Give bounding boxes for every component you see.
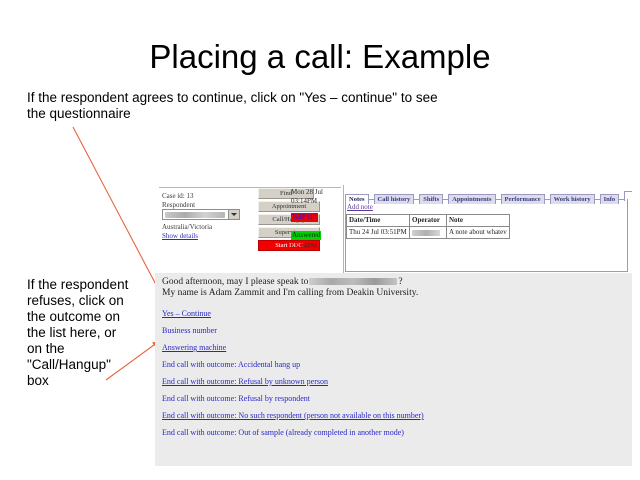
tab-appointments[interactable]: Appointments: [448, 194, 495, 204]
show-details-link[interactable]: Show details: [162, 232, 198, 240]
cell-datetime: Thu 24 Jul 03:51PM: [347, 227, 410, 239]
redacted-respondent-name: [165, 212, 225, 218]
tab-info[interactable]: Info: [600, 194, 620, 204]
notes-table: Date/Time Operator Note Thu 24 Jul 03:51…: [346, 214, 510, 239]
column-header-operator: Operator: [410, 215, 447, 227]
script-line-1: Good afternoon, may I please speak to?: [162, 277, 403, 288]
outcome-link-out-of-sample[interactable]: End call with outcome: Out of sample (al…: [162, 428, 404, 438]
script-line-2: My name is Adam Zammit and I'm calling f…: [162, 288, 418, 299]
timezone-label: Australia/Victoria: [162, 223, 212, 231]
column-header-note: Note: [447, 215, 510, 227]
arrow-top: [73, 127, 163, 298]
cell-note: A note about whatev: [447, 227, 510, 239]
redacted-respondent-name-inline: [309, 278, 397, 285]
tab-call-history[interactable]: Call history: [374, 194, 415, 204]
status-time-bottom: 03:14PM: [291, 242, 337, 251]
outcome-link-no-such-respondent[interactable]: End call with outcome: No such responden…: [162, 411, 424, 421]
column-header-datetime: Date/Time: [347, 215, 410, 227]
status-time-top: 03:14PM: [291, 197, 337, 206]
page-title: Placing a call: Example: [0, 38, 640, 76]
chevron-down-icon[interactable]: [228, 210, 239, 219]
tab-performance[interactable]: Performance: [501, 194, 545, 204]
tab-strip-filler: [624, 191, 632, 201]
voip-status-badge: VoIP Off: [291, 213, 318, 222]
case-id-label: Case id: 13: [162, 192, 194, 200]
add-note-link[interactable]: Add note: [347, 203, 373, 211]
redacted-operator-name: [412, 230, 440, 236]
outcome-link-refusal-unknown[interactable]: End call with outcome: Refusal by unknow…: [162, 377, 328, 387]
callout-text-top: If the respondent agrees to continue, cl…: [27, 90, 457, 122]
slide-canvas: Placing a call: Example If the responden…: [0, 0, 640, 480]
outcome-link-yes-continue[interactable]: Yes – Continue: [162, 309, 211, 319]
tab-shifts[interactable]: Shifts: [419, 194, 443, 204]
tab-strip: Notes Call history Shifts Appointments P…: [345, 188, 628, 200]
notes-panel: Notes Call history Shifts Appointments P…: [343, 185, 632, 273]
outcome-link-answering-machine[interactable]: Answering machine: [162, 343, 226, 353]
call-status-column: Mon 28 Jul 03:14PM VoIP Off Answered 03:…: [291, 188, 337, 251]
callout-text-left: If the respondent refuses, click on the …: [27, 277, 135, 389]
respondent-label: Respondent: [162, 201, 195, 209]
outcome-link-business-number[interactable]: Business number: [162, 326, 217, 336]
respondent-select[interactable]: [162, 209, 240, 220]
table-row[interactable]: Thu 24 Jul 03:51PM A note about whatev: [347, 227, 510, 239]
outcome-link-refusal-respondent[interactable]: End call with outcome: Refusal by respon…: [162, 394, 310, 404]
cell-operator: [410, 227, 447, 239]
script-greeting: Good afternoon, may I please speak to: [162, 277, 308, 287]
call-state-badge: Answered: [291, 231, 321, 240]
table-header-row: Date/Time Operator Note: [347, 215, 510, 227]
status-date: Mon 28 Jul: [291, 188, 337, 197]
script-and-outcomes-area: Good afternoon, may I please speak to? M…: [155, 273, 632, 466]
outcome-link-accidental-hang-up[interactable]: End call with outcome: Accidental hang u…: [162, 360, 300, 370]
divider: [343, 185, 344, 273]
app-top-bar: Case id: 13 Respondent Australia/Victori…: [155, 185, 632, 273]
tab-work-history[interactable]: Work history: [550, 194, 595, 204]
script-question-mark: ?: [398, 277, 402, 287]
embedded-application-screenshot: Case id: 13 Respondent Australia/Victori…: [155, 185, 632, 466]
